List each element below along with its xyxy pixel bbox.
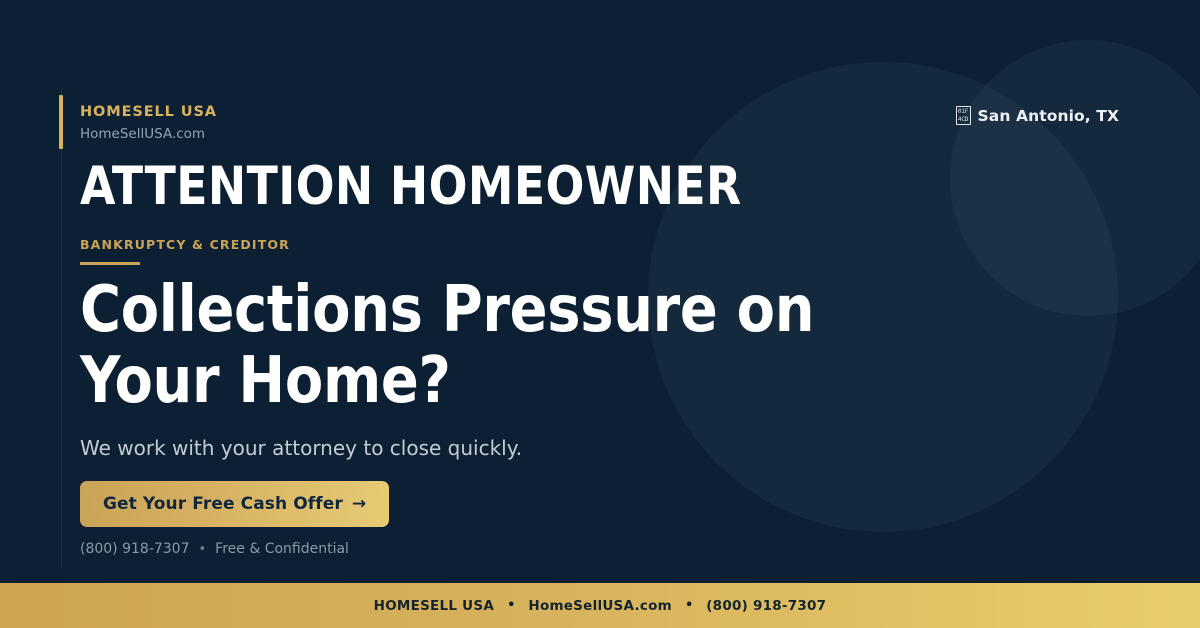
footer-separator-2-icon: •	[685, 599, 693, 612]
ad-banner: HOMESELL USA HomeSellUSA.com 01F 4CD San…	[0, 0, 1200, 628]
left-rail-line	[61, 88, 62, 568]
eyebrow-label: BANKRUPTCY & CREDITOR	[80, 237, 290, 252]
attention-headline: ATTENTION HOMEOWNER	[80, 158, 742, 215]
eyebrow-underline	[80, 262, 140, 265]
footer-separator-1-icon: •	[507, 599, 515, 612]
footer-phone[interactable]: (800) 918-7307	[706, 598, 826, 614]
left-accent-bar	[59, 95, 63, 149]
pushpin-icon-codepoint-bottom: 4CD	[957, 116, 970, 124]
footer-bar: HOMESELL USA • HomeSellUSA.com • (800) 9…	[0, 583, 1200, 628]
location-label: San Antonio, TX	[978, 107, 1119, 125]
arrow-right-icon: →	[352, 496, 366, 513]
subtitle: We work with your attorney to close quic…	[80, 435, 522, 462]
get-free-cash-offer-button[interactable]: Get Your Free Cash Offer →	[80, 481, 389, 527]
contact-separator-icon: •	[199, 542, 207, 557]
footer-website[interactable]: HomeSellUSA.com	[528, 598, 672, 614]
cta-label: Get Your Free Cash Offer	[103, 494, 343, 514]
contact-line: (800) 918-7307 • Free & Confidential	[80, 541, 349, 557]
brand-block: HOMESELL USA HomeSellUSA.com	[80, 104, 217, 142]
footer-brand: HOMESELL USA	[374, 598, 494, 614]
page-title: Collections Pressure on Your Home?	[80, 275, 934, 418]
brand-website: HomeSellUSA.com	[80, 126, 217, 142]
pushpin-icon-codepoint-top: 01F	[957, 108, 970, 116]
brand-name: HOMESELL USA	[80, 104, 217, 121]
hero-content: HOMESELL USA HomeSellUSA.com 01F 4CD San…	[80, 0, 1120, 583]
header-row: HOMESELL USA HomeSellUSA.com 01F 4CD San…	[80, 104, 1120, 142]
contact-note: Free & Confidential	[215, 541, 349, 557]
location-badge: 01F 4CD San Antonio, TX	[956, 106, 1120, 125]
pushpin-icon: 01F 4CD	[956, 106, 971, 125]
contact-phone[interactable]: (800) 918-7307	[80, 541, 190, 557]
